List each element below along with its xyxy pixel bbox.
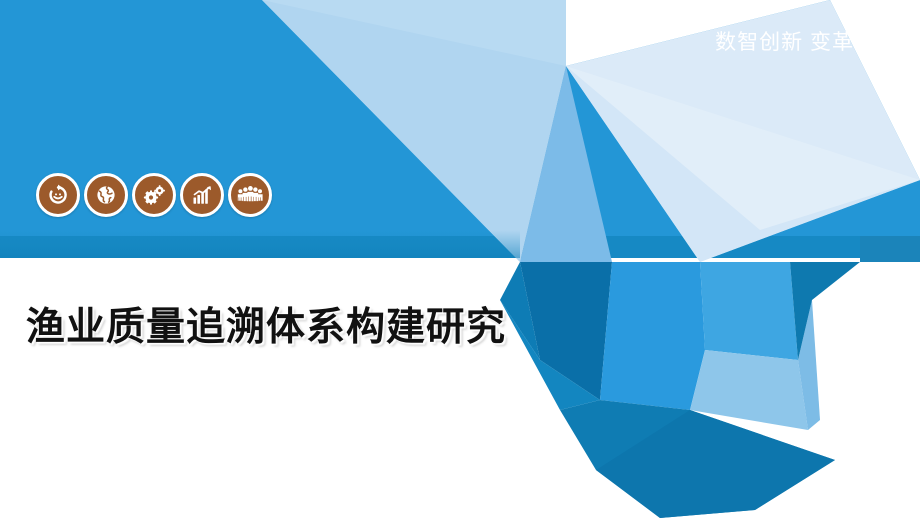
- poly-lower-medium-right: [700, 262, 798, 360]
- poly-deep-blue-right: [790, 262, 860, 360]
- icon-badge-people[interactable]: [228, 173, 272, 217]
- tagline-text: 数智创新 变革未来: [715, 26, 898, 56]
- bar-chart-growth-icon: [190, 183, 214, 207]
- poly-band-tab-right: [860, 236, 920, 262]
- people-group-icon: [237, 184, 263, 206]
- presentation-slide: 数智创新 变革未来: [0, 0, 920, 518]
- icon-badge-recycle[interactable]: [36, 173, 80, 217]
- page-title: 渔业质量追溯体系构建研究: [26, 296, 506, 352]
- feature-icon-row: [36, 173, 272, 217]
- band-bottom-sheen: [0, 230, 520, 258]
- icon-badge-globe[interactable]: [84, 173, 128, 217]
- icon-badge-bar-chart[interactable]: [180, 173, 224, 217]
- gears-icon: [142, 183, 167, 208]
- low-poly-background: [0, 0, 920, 518]
- globe-icon: [94, 183, 118, 207]
- icon-badge-gears[interactable]: [132, 173, 176, 217]
- recycle-arrows-icon: [46, 183, 70, 207]
- poly-lower-bright-center: [600, 262, 705, 410]
